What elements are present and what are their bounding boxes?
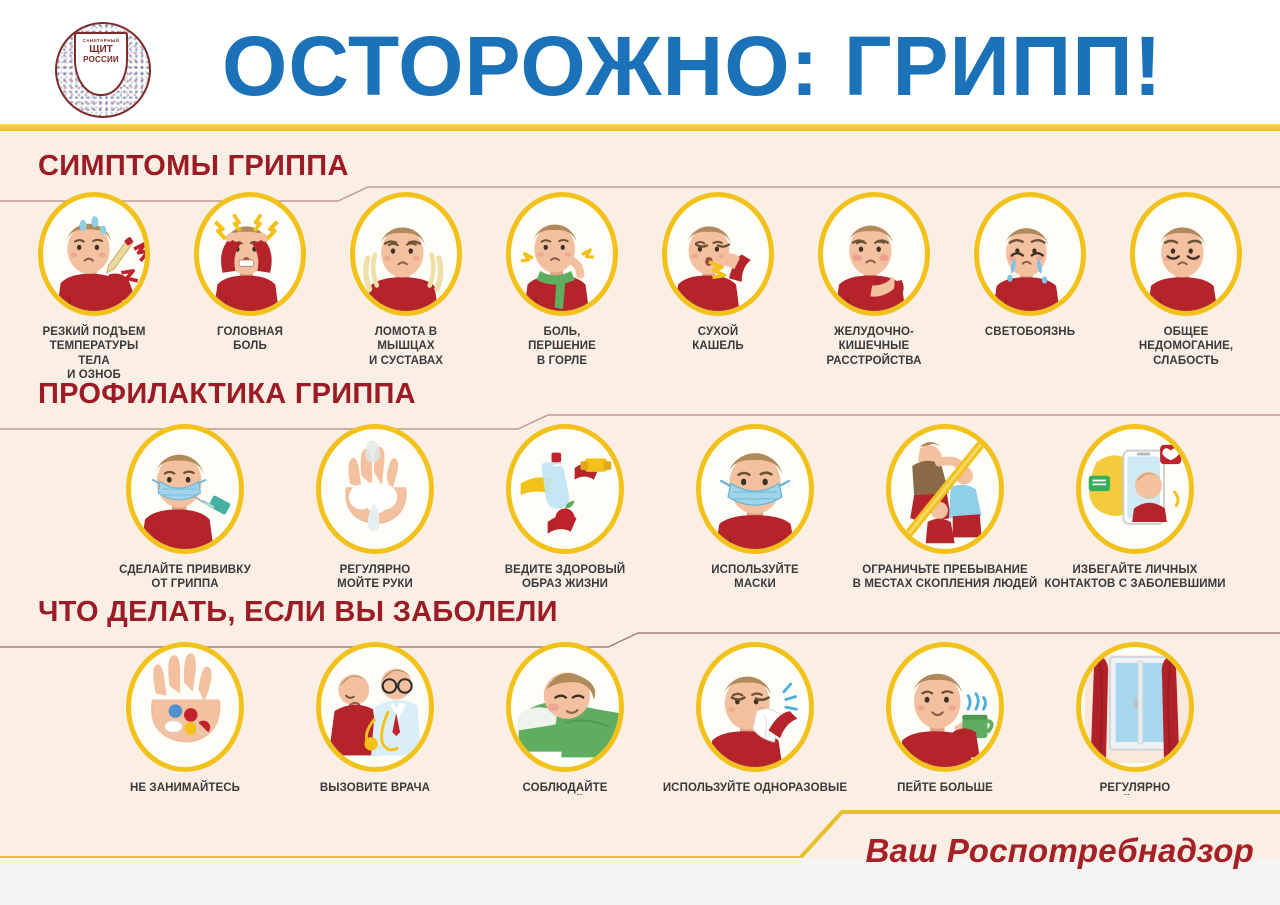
disposable-tissue-icon xyxy=(696,642,814,772)
muscle-joint-ache-icon xyxy=(350,192,462,316)
poster: САНИТАРНЫЙ ЩИТ РОССИИ ОСТОРОЖНО: ГРИПП! … xyxy=(0,0,1280,905)
info-item: ГОЛОВНАЯ БОЛЬ xyxy=(190,192,310,383)
general-weakness-icon xyxy=(1130,192,1242,316)
info-item: РЕГУЛЯРНО МОЙТЕ РУКИ xyxy=(280,424,470,592)
healthy-lifestyle-icon xyxy=(506,424,624,554)
ventilate-room-window-icon xyxy=(1076,642,1194,772)
info-item-caption: ЖЕЛУДОЧНО- КИШЕЧНЫЕ РАССТРОЙСТВА xyxy=(814,325,934,368)
info-item: СДЕЛАЙТЕ ПРИВИВКУ ОТ ГРИППА xyxy=(90,424,280,592)
info-item-caption: СУХОЙ КАШЕЛЬ xyxy=(658,325,778,354)
info-item-caption: БОЛЬ, ПЕРШЕНИЕ В ГОРЛЕ xyxy=(502,325,622,368)
info-item-caption: РЕГУЛЯРНО МОЙТЕ РУКИ xyxy=(280,563,470,592)
info-item-caption: РЕЗКИЙ ПОДЪЕМ ТЕМПЕРАТУРЫ ТЕЛА И ОЗНОБ xyxy=(34,325,154,383)
info-item: ЖЕЛУДОЧНО- КИШЕЧНЫЕ РАССТРОЙСТВА xyxy=(814,192,934,383)
info-item: ВЕДИТЕ ЗДОРОВЫЙ ОБРАЗ ЖИЗНИ xyxy=(470,424,660,592)
section-header-if-sick: ЧТО ДЕЛАТЬ, ЕСЛИ ВЫ ЗАБОЛЕЛИ xyxy=(0,596,1280,642)
shield-globe-logo-icon: САНИТАРНЫЙ ЩИТ РОССИИ xyxy=(47,14,155,122)
call-doctor-icon xyxy=(316,642,434,772)
info-item-caption: ГОЛОВНАЯ БОЛЬ xyxy=(190,325,310,354)
bed-rest-icon xyxy=(506,642,624,772)
section-header-symptoms: СИМПТОМЫ ГРИППА xyxy=(0,150,1280,196)
stomach-ache-icon xyxy=(818,192,930,316)
section-header-prevention: ПРОФИЛАКТИКА ГРИППА xyxy=(0,378,1280,424)
info-item: ЛОМОТА В МЫШЦАХ И СУСТАВАХ xyxy=(346,192,466,383)
info-item-caption: ВЕДИТЕ ЗДОРОВЫЙ ОБРАЗ ЖИЗНИ xyxy=(470,563,660,592)
info-item: СВЕТОБОЯЗНЬ xyxy=(970,192,1090,383)
info-item: СУХОЙ КАШЕЛЬ xyxy=(658,192,778,383)
info-item-caption: ЛОМОТА В МЫШЦАХ И СУСТАВАХ xyxy=(346,325,466,368)
info-item-caption: СДЕЛАЙТЕ ПРИВИВКУ ОТ ГРИППА xyxy=(90,563,280,592)
info-item-caption: ИЗБЕГАЙТЕ ЛИЧНЫХ КОНТАКТОВ С ЗАБОЛЕВШИМИ xyxy=(1040,563,1230,592)
info-item-caption: ОГРАНИЧЬТЕ ПРЕБЫВАНИЕ В МЕСТАХ СКОПЛЕНИЯ… xyxy=(850,563,1040,592)
info-item: ИЗБЕГАЙТЕ ЛИЧНЫХ КОНТАКТОВ С ЗАБОЛЕВШИМИ xyxy=(1040,424,1230,592)
info-item-caption: ИСПОЛЬЗУЙТЕ МАСКИ xyxy=(660,563,850,592)
info-item: ИСПОЛЬЗУЙТЕ МАСКИ xyxy=(660,424,850,592)
face-mask-icon xyxy=(696,424,814,554)
prevention-row: СДЕЛАЙТЕ ПРИВИВКУ ОТ ГРИППА РЕГУЛЯРНО МО… xyxy=(0,424,1280,592)
header-gold-stripe xyxy=(0,124,1280,131)
info-item-caption: СВЕТОБОЯЗНЬ xyxy=(970,325,1090,339)
vaccination-syringe-icon xyxy=(126,424,244,554)
section-title-symptoms: СИМПТОМЫ ГРИППА xyxy=(38,150,349,183)
no-self-medication-pills-icon xyxy=(126,642,244,772)
info-item: БОЛЬ, ПЕРШЕНИЕ В ГОРЛЕ xyxy=(502,192,622,383)
headache-icon xyxy=(194,192,306,316)
photophobia-tears-icon xyxy=(974,192,1086,316)
sore-throat-icon xyxy=(506,192,618,316)
logo-line-1: САНИТАРНЫЙ xyxy=(83,39,120,43)
fever-thermometer-icon xyxy=(38,192,150,316)
footer-brand: Ваш Роспотребнадзор xyxy=(865,832,1254,870)
symptom-row: РЕЗКИЙ ПОДЪЕМ ТЕМПЕРАТУРЫ ТЕЛА И ОЗНОБ Г… xyxy=(0,192,1280,383)
section-title-if-sick: ЧТО ДЕЛАТЬ, ЕСЛИ ВЫ ЗАБОЛЕЛИ xyxy=(38,596,558,629)
logo-line-3: РОССИИ xyxy=(83,56,119,64)
info-item: ОБЩЕЕ НЕДОМОГАНИЕ, СЛАБОСТЬ xyxy=(1126,192,1246,383)
avoid-contact-phone-icon xyxy=(1076,424,1194,554)
info-item-caption: ВЫЗОВИТЕ ВРАЧА xyxy=(280,781,470,795)
avoid-crowds-icon xyxy=(886,424,1004,554)
dry-cough-icon xyxy=(662,192,774,316)
info-item: ОГРАНИЧЬТЕ ПРЕБЫВАНИЕ В МЕСТАХ СКОПЛЕНИЯ… xyxy=(850,424,1040,592)
page-title: ОСТОРОЖНО: ГРИПП! xyxy=(222,12,1262,120)
info-item: РЕЗКИЙ ПОДЪЕМ ТЕМПЕРАТУРЫ ТЕЛА И ОЗНОБ xyxy=(34,192,154,383)
wash-hands-soap-icon xyxy=(316,424,434,554)
drink-fluids-icon xyxy=(886,642,1004,772)
info-item-caption: ОБЩЕЕ НЕДОМОГАНИЕ, СЛАБОСТЬ xyxy=(1126,325,1246,368)
section-title-prevention: ПРОФИЛАКТИКА ГРИППА xyxy=(38,378,416,411)
